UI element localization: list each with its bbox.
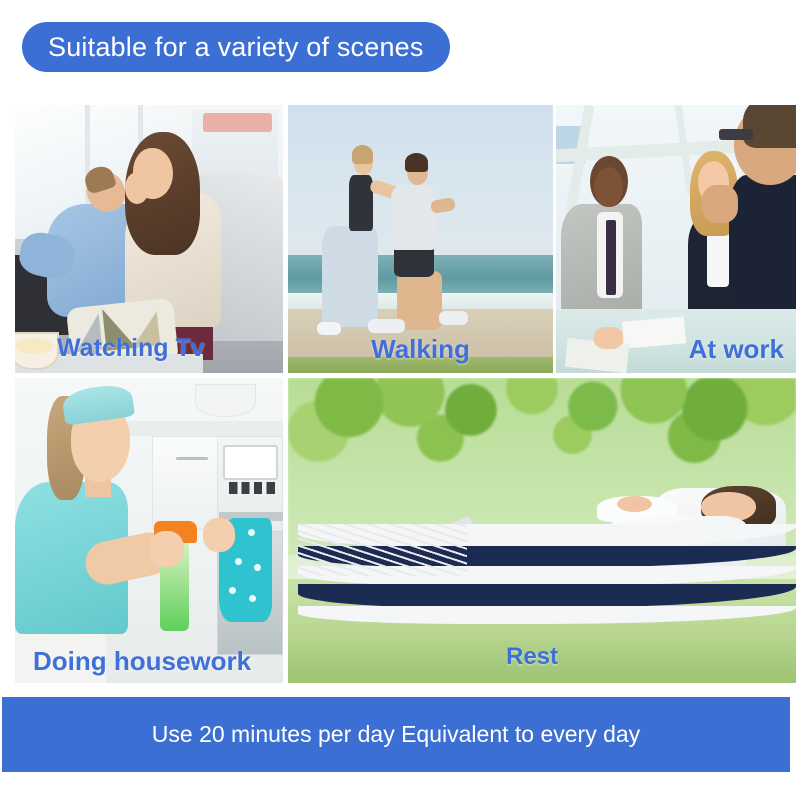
hammock-stripe-navy: [298, 584, 796, 608]
cabinet-handle-shape: [176, 457, 208, 460]
scene-gallery: Watching Tv: [15, 105, 796, 683]
cloth-dot: [235, 558, 242, 565]
man-shoe-shape: [375, 319, 404, 332]
photo-rest: [288, 378, 796, 683]
cloth-dot: [248, 529, 255, 536]
scene-panel-watching-tv[interactable]: Watching Tv: [15, 105, 283, 373]
man-shirt-shape: [391, 185, 436, 249]
woman-top-shape: [349, 175, 373, 231]
header-badge: Suitable for a variety of scenes: [22, 22, 450, 72]
scene-panel-doing-housework[interactable]: Doing housework: [15, 378, 283, 683]
popcorn-shape: [15, 338, 53, 354]
hand-shape: [594, 327, 623, 348]
cabinet-shape: [152, 436, 224, 530]
oven-knobs-shape: [229, 482, 275, 494]
woman-hair-shape: [352, 145, 373, 164]
scene-caption-doing-housework: Doing housework: [33, 646, 251, 677]
man-hair-shape: [405, 153, 429, 172]
scene-caption-watching-tv: Watching Tv: [57, 334, 205, 363]
footer-banner: Use 20 minutes per day Equivalent to eve…: [2, 697, 790, 772]
oven-display-shape: [223, 445, 278, 480]
scene-caption-walking: Walking: [288, 334, 553, 365]
scene-panel-at-work[interactable]: At work: [556, 105, 796, 373]
counter-shape: [106, 421, 283, 436]
woman-hand-shape: [125, 172, 149, 204]
woman-hand-shape: [203, 518, 235, 552]
photo-watching-tv: [15, 105, 283, 373]
photo-doing-housework: [15, 378, 283, 683]
hammock-stripe-white: [298, 606, 796, 624]
bowl-shape: [195, 384, 256, 417]
man-tie-shape: [606, 220, 616, 295]
woman-hand-shape: [149, 531, 184, 568]
outdoor-roof-shape: [203, 113, 273, 132]
scene-caption-rest: Rest: [506, 643, 558, 671]
scene-caption-at-work: At work: [689, 334, 784, 365]
photo-at-work: [556, 105, 796, 373]
woman-trousers-shape: [322, 226, 378, 328]
scene-panel-walking[interactable]: Walking: [288, 105, 553, 373]
man-face-shape: [594, 167, 623, 207]
cloth-dot: [229, 587, 236, 594]
footer-text: Use 20 minutes per day Equivalent to eve…: [152, 721, 640, 748]
page-title: Suitable for a variety of scenes: [48, 34, 424, 61]
hammock-shape: [298, 463, 796, 664]
glasses-shape: [719, 129, 753, 140]
scene-panel-rest[interactable]: Rest: [288, 378, 796, 683]
colleague-hair-shape: [743, 105, 796, 148]
photo-walking: [288, 105, 553, 373]
woman-hand-shape: [617, 496, 652, 512]
cloth-dot: [249, 595, 256, 602]
hammock-ropes-shape: [298, 524, 467, 576]
promo-page: Suitable for a variety of scenes: [0, 0, 800, 800]
man-shoe-shape: [439, 311, 468, 324]
cloth-dot: [254, 564, 261, 571]
colleague-hand-shape: [702, 185, 738, 223]
